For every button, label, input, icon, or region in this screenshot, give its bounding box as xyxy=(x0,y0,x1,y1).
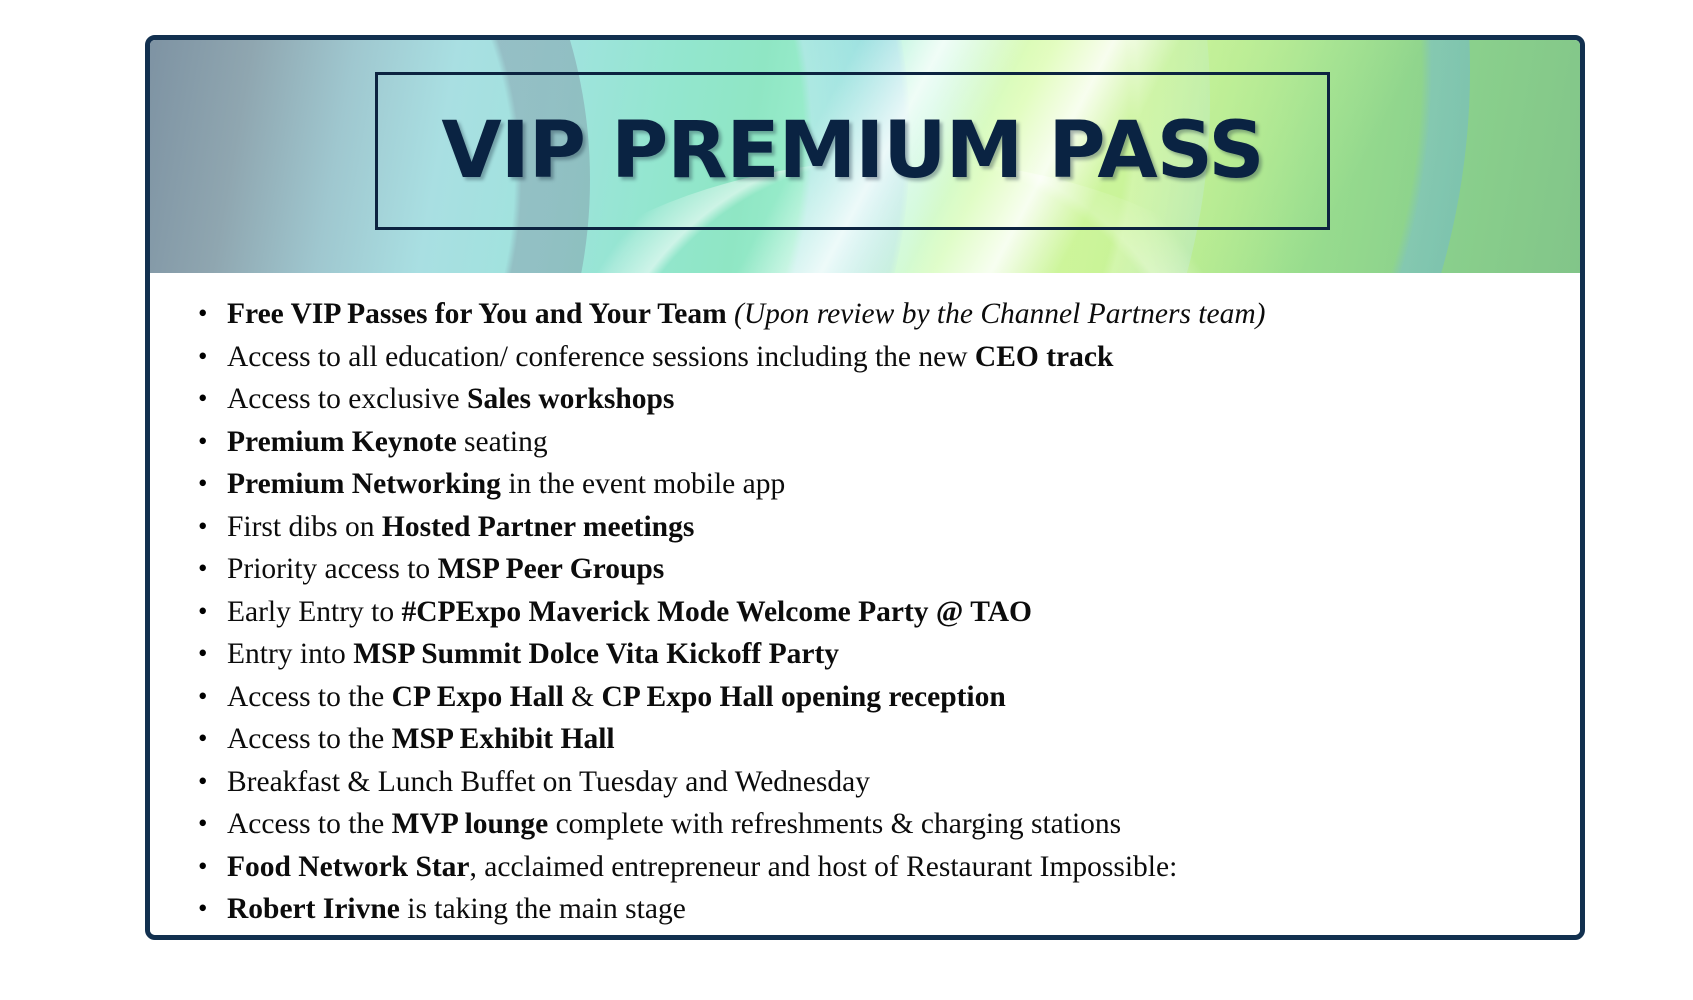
benefits-list: Free VIP Passes for You and Your Team (U… xyxy=(180,295,1550,929)
benefit-text-run: MSP Summit Dolce Vita Kickoff Party xyxy=(353,638,839,670)
benefit-item: Access to the MSP Exhibit Hall xyxy=(180,720,1550,759)
benefit-text-run: Free VIP Passes for You and Your Team xyxy=(227,298,727,330)
benefit-item: Access to the MVP lounge complete with r… xyxy=(180,805,1550,844)
benefit-item: Food Network Star, acclaimed entrepreneu… xyxy=(180,848,1550,887)
benefit-text-run: CP Expo Hall xyxy=(392,681,564,713)
benefit-text-run xyxy=(727,298,734,330)
benefit-text-run: , acclaimed entrepreneur and host of Res… xyxy=(470,851,1178,883)
benefit-item: First dibs on Hosted Partner meetings xyxy=(180,508,1550,547)
benefit-text-run: MSP Exhibit Hall xyxy=(392,723,615,755)
benefit-text-run: Entry into xyxy=(227,638,353,670)
benefit-text-run: Robert Irivne xyxy=(227,893,400,925)
benefit-text-run: in the event mobile app xyxy=(501,468,785,500)
benefit-text-run: (Upon review by the Channel Partners tea… xyxy=(734,298,1265,330)
benefit-text-run: Food Network Star xyxy=(227,851,470,883)
benefit-text-run: CP Expo Hall opening reception xyxy=(601,681,1005,713)
benefit-text-run: Access to the xyxy=(227,808,392,840)
header-banner: VIP PREMIUM PASS xyxy=(150,40,1580,273)
page-title: VIP PREMIUM PASS xyxy=(441,106,1263,196)
benefit-text-run: complete with refreshments & charging st… xyxy=(548,808,1121,840)
benefit-item: Access to all education/ conference sess… xyxy=(180,338,1550,377)
benefit-text-run: Access to exclusive xyxy=(227,383,467,415)
benefit-text-run: Sales workshops xyxy=(467,383,674,415)
benefit-text-run: MVP lounge xyxy=(392,808,549,840)
benefit-item: Priority access to MSP Peer Groups xyxy=(180,550,1550,589)
benefit-text-run: Access to all education/ conference sess… xyxy=(227,341,975,373)
body-area: Free VIP Passes for You and Your Team (U… xyxy=(150,273,1580,940)
benefit-item: Entry into MSP Summit Dolce Vita Kickoff… xyxy=(180,635,1550,674)
benefit-text-run: First dibs on xyxy=(227,511,382,543)
benefit-text-run: is taking the main stage xyxy=(400,893,686,925)
benefit-text-run: Priority access to xyxy=(227,553,438,585)
benefit-item: Access to the CP Expo Hall & CP Expo Hal… xyxy=(180,678,1550,717)
benefit-text-run: Access to the xyxy=(227,681,392,713)
benefit-item: Premium Networking in the event mobile a… xyxy=(180,465,1550,504)
benefit-text-run: MSP Peer Groups xyxy=(438,553,665,585)
benefit-text-run: Premium Keynote xyxy=(227,426,457,458)
benefit-item: Access to exclusive Sales workshops xyxy=(180,380,1550,419)
benefit-text-run: Access to the xyxy=(227,723,392,755)
benefit-text-run: Breakfast & Lunch Buffet on Tuesday and … xyxy=(227,766,870,798)
benefit-item: Robert Irivne is taking the main stage xyxy=(180,890,1550,929)
benefit-item: Premium Keynote seating xyxy=(180,423,1550,462)
slide-card: VIP PREMIUM PASS Free VIP Passes for You… xyxy=(145,35,1585,940)
benefit-text-run: CEO track xyxy=(975,341,1113,373)
benefit-text-run: #CPExpo Maverick Mode Welcome Party @ TA… xyxy=(402,596,1032,628)
benefit-item: Early Entry to #CPExpo Maverick Mode Wel… xyxy=(180,593,1550,632)
title-plate: VIP PREMIUM PASS xyxy=(375,72,1330,230)
benefit-text-run: Early Entry to xyxy=(227,596,402,628)
benefit-text-run: seating xyxy=(457,426,548,458)
benefit-item: Breakfast & Lunch Buffet on Tuesday and … xyxy=(180,763,1550,802)
benefit-text-run: Hosted Partner meetings xyxy=(382,511,694,543)
benefit-text-run: Premium Networking xyxy=(227,468,501,500)
benefit-text-run: & xyxy=(564,681,602,713)
benefit-item: Free VIP Passes for You and Your Team (U… xyxy=(180,295,1550,334)
